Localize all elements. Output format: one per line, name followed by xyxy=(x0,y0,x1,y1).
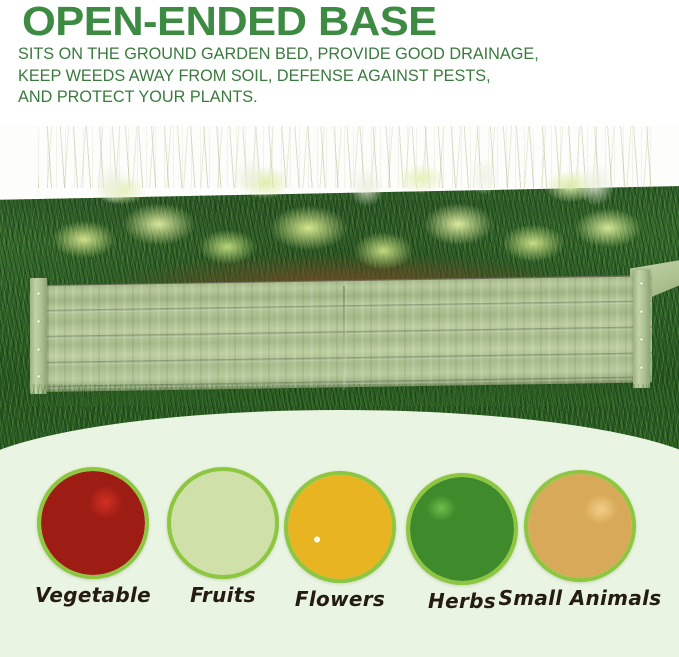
vegetables-photo xyxy=(41,471,145,575)
herbs-photo xyxy=(410,477,514,581)
category-ring-fruits xyxy=(167,467,279,579)
screw-icon xyxy=(640,366,643,369)
header-section: OPEN-ENDED BASE SITS ON THE GROUND GARDE… xyxy=(0,0,679,126)
flowers-photo xyxy=(288,475,392,579)
screw-icon xyxy=(37,320,40,323)
category-ring-herbs xyxy=(406,473,518,585)
screw-icon xyxy=(37,292,40,295)
subtitle-line-2: KEEP WEEDS AWAY FROM SOIL, DEFENSE AGAIN… xyxy=(18,66,648,88)
page-title: OPEN-ENDED BASE xyxy=(22,0,437,45)
bed-corrugation-flutes xyxy=(38,276,652,392)
subtitle-line-3: AND PROTECT YOUR PLANTS. xyxy=(18,87,648,109)
silver-foliage-accents xyxy=(38,108,658,234)
category-ring-vegetable xyxy=(37,467,149,579)
header-subtitle: SITS ON THE GROUND GARDEN BED, PROVIDE G… xyxy=(18,44,648,109)
screw-icon xyxy=(640,282,643,285)
small-animals-photo xyxy=(528,474,632,578)
screw-icon xyxy=(37,375,40,378)
fruits-photo xyxy=(171,471,275,575)
subtitle-line-1: SITS ON THE GROUND GARDEN BED, PROVIDE G… xyxy=(18,44,648,66)
raised-garden-bed xyxy=(38,166,652,418)
bed-corner-post-right xyxy=(633,270,650,388)
category-label-small-animals: Small Animals xyxy=(495,586,665,610)
bed-corner-post-left xyxy=(30,278,47,394)
screw-icon xyxy=(640,310,643,313)
category-ring-flowers xyxy=(284,471,396,583)
category-ring-small-animals xyxy=(524,470,636,582)
screw-icon xyxy=(37,348,40,351)
infographic-page: OPEN-ENDED BASE SITS ON THE GROUND GARDE… xyxy=(0,0,679,657)
grass-at-bed-base xyxy=(24,384,674,406)
bed-panel-middle-seam xyxy=(343,286,345,390)
screw-icon xyxy=(640,338,643,341)
